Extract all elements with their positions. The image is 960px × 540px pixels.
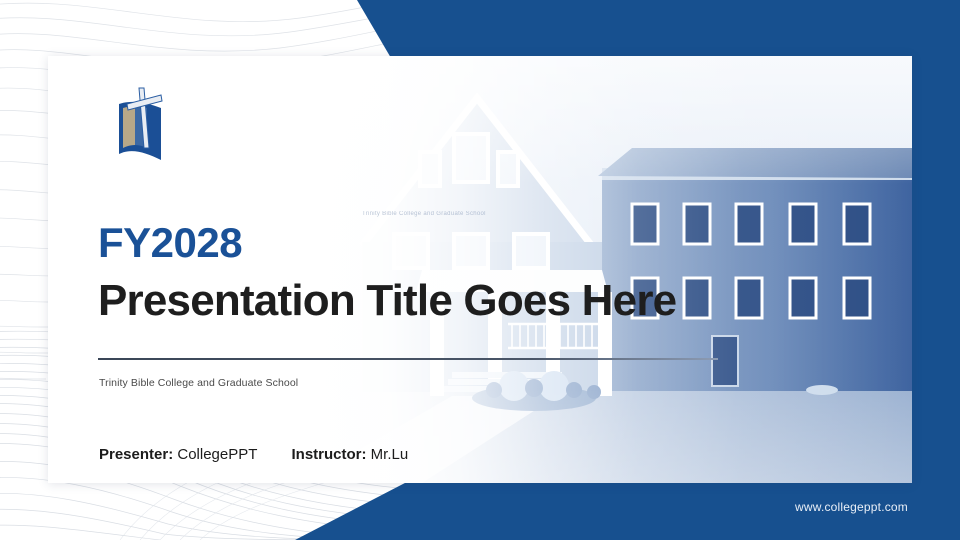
college-logo-icon <box>105 82 177 168</box>
page-title: Presentation Title Goes Here <box>98 278 676 324</box>
campus-photo: Trinity Bible College and Graduate Schoo… <box>302 56 912 483</box>
content-card: Trinity Bible College and Graduate Schoo… <box>48 56 912 483</box>
school-name-subtitle: Trinity Bible College and Graduate Schoo… <box>99 377 298 389</box>
presenter-label: Presenter: <box>99 446 173 463</box>
fiscal-year-label: FY2028 <box>98 222 242 264</box>
presentation-slide: Trinity Bible College and Graduate Schoo… <box>0 0 960 540</box>
building-signage-text: Trinity Bible College and Graduate Schoo… <box>362 211 486 217</box>
title-divider <box>98 358 718 360</box>
credits-line: Presenter: CollegePPT Instructor: Mr.Lu <box>99 446 408 463</box>
presenter-value: CollegePPT <box>177 446 257 463</box>
instructor-value: Mr.Lu <box>371 446 409 463</box>
footer-website-url: www.collegeppt.com <box>795 500 908 514</box>
blue-top-banner <box>0 0 960 58</box>
photo-left-fade <box>302 56 912 483</box>
instructor-label: Instructor: <box>292 446 367 463</box>
